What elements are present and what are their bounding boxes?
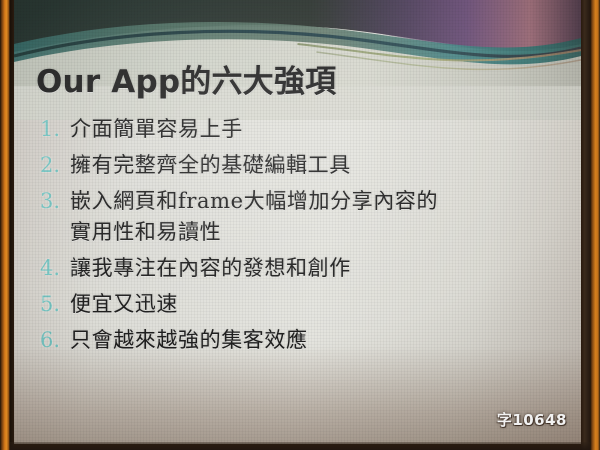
list-item-text: 只會越來越強的集客效應 xyxy=(70,325,567,356)
list-item-text: 便宜又迅速 xyxy=(70,289,567,320)
list-item: 2. 擁有完整齊全的基礎編輯工具 xyxy=(40,150,567,181)
list-item-text: 介面簡單容易上手 xyxy=(70,114,567,145)
bullet-list: 1. 介面簡單容易上手 2. 擁有完整齊全的基礎編輯工具 3. 嵌入網頁和fra… xyxy=(40,114,567,361)
frame-bezel-right xyxy=(581,0,590,450)
list-item-text: 讓我專注在內容的發想和創作 xyxy=(70,253,567,284)
list-item-text-line1: 嵌入網頁和frame大幅增加分享內容的 xyxy=(70,186,567,217)
list-item-text: 擁有完整齊全的基礎編輯工具 xyxy=(70,150,567,181)
list-item-number: 2. xyxy=(40,150,70,181)
list-item-number: 4. xyxy=(40,253,70,284)
list-item: 6. 只會越來越強的集客效應 xyxy=(40,325,567,356)
list-item-number: 5. xyxy=(40,289,70,320)
frame-edge-left xyxy=(0,0,10,450)
frame-edge-right xyxy=(590,0,600,450)
list-item-text-line2: 實用性和易讀性 xyxy=(70,217,567,248)
list-item: 5. 便宜又迅速 xyxy=(40,289,567,320)
list-item-number: 6. xyxy=(40,325,70,356)
list-item-number: 3. xyxy=(40,186,70,217)
watermark-label: 字10648 xyxy=(497,409,567,430)
list-item: 3. 嵌入網頁和frame大幅增加分享內容的 實用性和易讀性 xyxy=(40,186,567,248)
list-item-text: 嵌入網頁和frame大幅增加分享內容的 實用性和易讀性 xyxy=(70,186,567,248)
list-item: 1. 介面簡單容易上手 xyxy=(40,114,567,145)
list-item: 4. 讓我專注在內容的發想和創作 xyxy=(40,253,567,284)
list-item-number: 1. xyxy=(40,114,70,145)
frame-bezel-bottom xyxy=(0,442,600,450)
photo-frame: Our App的六大強項 1. 介面簡單容易上手 2. 擁有完整齊全的基礎編輯工… xyxy=(0,0,600,450)
presentation-slide: Our App的六大強項 1. 介面簡單容易上手 2. 擁有完整齊全的基礎編輯工… xyxy=(14,0,581,444)
frame-bezel-left xyxy=(10,0,14,450)
page-title: Our App的六大強項 xyxy=(36,56,336,101)
